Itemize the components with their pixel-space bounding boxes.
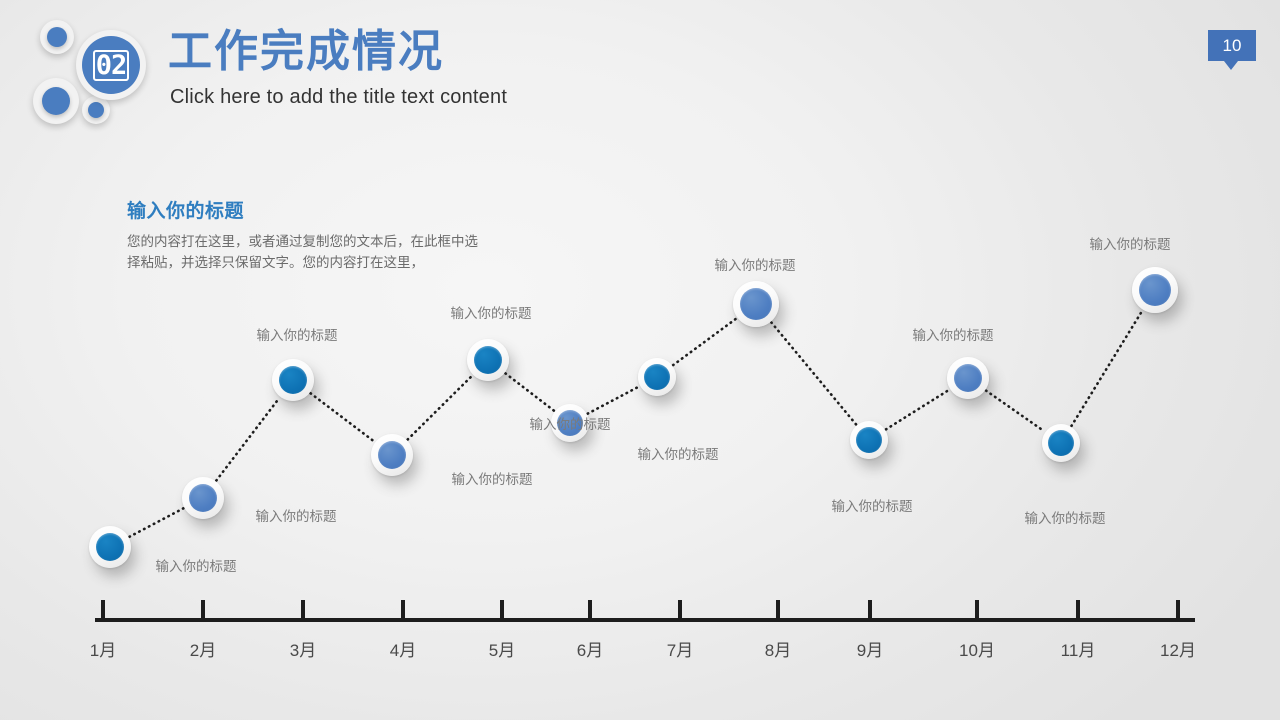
chart-marker[interactable] bbox=[182, 477, 224, 519]
chart-point-label: 输入你的标题 bbox=[832, 495, 913, 515]
x-axis-tick-label: 2月 bbox=[190, 636, 216, 661]
chart-marker[interactable] bbox=[272, 359, 314, 401]
chart-point-label: 输入你的标题 bbox=[1090, 233, 1171, 253]
chart-marker-core bbox=[189, 484, 217, 512]
timeline-line-chart: 输入你的标题输入你的标题输入你的标题输入你的标题输入你的标题输入你的标题输入你的… bbox=[0, 0, 1280, 720]
x-axis-tick bbox=[1176, 600, 1180, 620]
x-axis-tick bbox=[201, 600, 205, 620]
x-axis-tick bbox=[588, 600, 592, 620]
chart-point-label: 输入你的标题 bbox=[256, 505, 337, 525]
x-axis-tick-label: 10月 bbox=[959, 636, 995, 661]
chart-point-label: 输入你的标题 bbox=[1025, 507, 1106, 527]
x-axis-tick-label: 11月 bbox=[1061, 636, 1096, 661]
x-axis-tick-label: 6月 bbox=[577, 636, 603, 661]
x-axis-tick bbox=[868, 600, 872, 620]
chart-marker[interactable] bbox=[850, 421, 888, 459]
chart-point-label: 输入你的标题 bbox=[715, 254, 796, 274]
chart-marker-core bbox=[1139, 274, 1171, 306]
chart-marker[interactable] bbox=[467, 339, 509, 381]
chart-marker-core bbox=[378, 441, 406, 469]
chart-marker-core bbox=[1048, 430, 1074, 456]
chart-marker-core bbox=[474, 346, 502, 374]
chart-marker[interactable] bbox=[371, 434, 413, 476]
x-axis-tick-label: 12月 bbox=[1160, 636, 1196, 661]
x-axis-tick bbox=[101, 600, 105, 620]
chart-point-label: 输入你的标题 bbox=[452, 468, 533, 488]
chart-point-label: 输入你的标题 bbox=[530, 413, 611, 433]
x-axis-tick-label: 3月 bbox=[290, 636, 316, 661]
x-axis-tick bbox=[776, 600, 780, 620]
chart-marker[interactable] bbox=[89, 526, 131, 568]
chart-marker[interactable] bbox=[638, 358, 676, 396]
x-axis-tick bbox=[500, 600, 504, 620]
x-axis-line bbox=[95, 618, 1195, 622]
x-axis-tick-label: 1月 bbox=[90, 636, 116, 661]
x-axis-tick-label: 5月 bbox=[489, 636, 515, 661]
x-axis-tick bbox=[1076, 600, 1080, 620]
chart-marker-core bbox=[954, 364, 982, 392]
chart-marker-core bbox=[856, 427, 882, 453]
chart-point-label: 输入你的标题 bbox=[257, 324, 338, 344]
chart-marker-core bbox=[740, 288, 772, 320]
x-axis-tick bbox=[401, 600, 405, 620]
x-axis-tick-label: 8月 bbox=[765, 636, 791, 661]
chart-marker[interactable] bbox=[947, 357, 989, 399]
chart-marker-core bbox=[644, 364, 670, 390]
slide: 02 工作完成情况 Click here to add the title te… bbox=[0, 0, 1280, 720]
chart-marker[interactable] bbox=[1132, 267, 1178, 313]
x-axis-tick-label: 4月 bbox=[390, 636, 416, 661]
x-axis-tick-label: 7月 bbox=[667, 636, 693, 661]
x-axis-tick bbox=[301, 600, 305, 620]
x-axis-tick bbox=[678, 600, 682, 620]
chart-marker[interactable] bbox=[1042, 424, 1080, 462]
chart-point-label: 输入你的标题 bbox=[451, 302, 532, 322]
chart-point-label: 输入你的标题 bbox=[638, 443, 719, 463]
chart-marker-core bbox=[96, 533, 124, 561]
chart-point-label: 输入你的标题 bbox=[913, 324, 994, 344]
chart-marker-core bbox=[279, 366, 307, 394]
chart-dotted-connector bbox=[0, 0, 1280, 720]
chart-point-label: 输入你的标题 bbox=[156, 555, 237, 575]
chart-marker[interactable] bbox=[733, 281, 779, 327]
x-axis-tick-label: 9月 bbox=[857, 636, 883, 661]
x-axis-tick bbox=[975, 600, 979, 620]
